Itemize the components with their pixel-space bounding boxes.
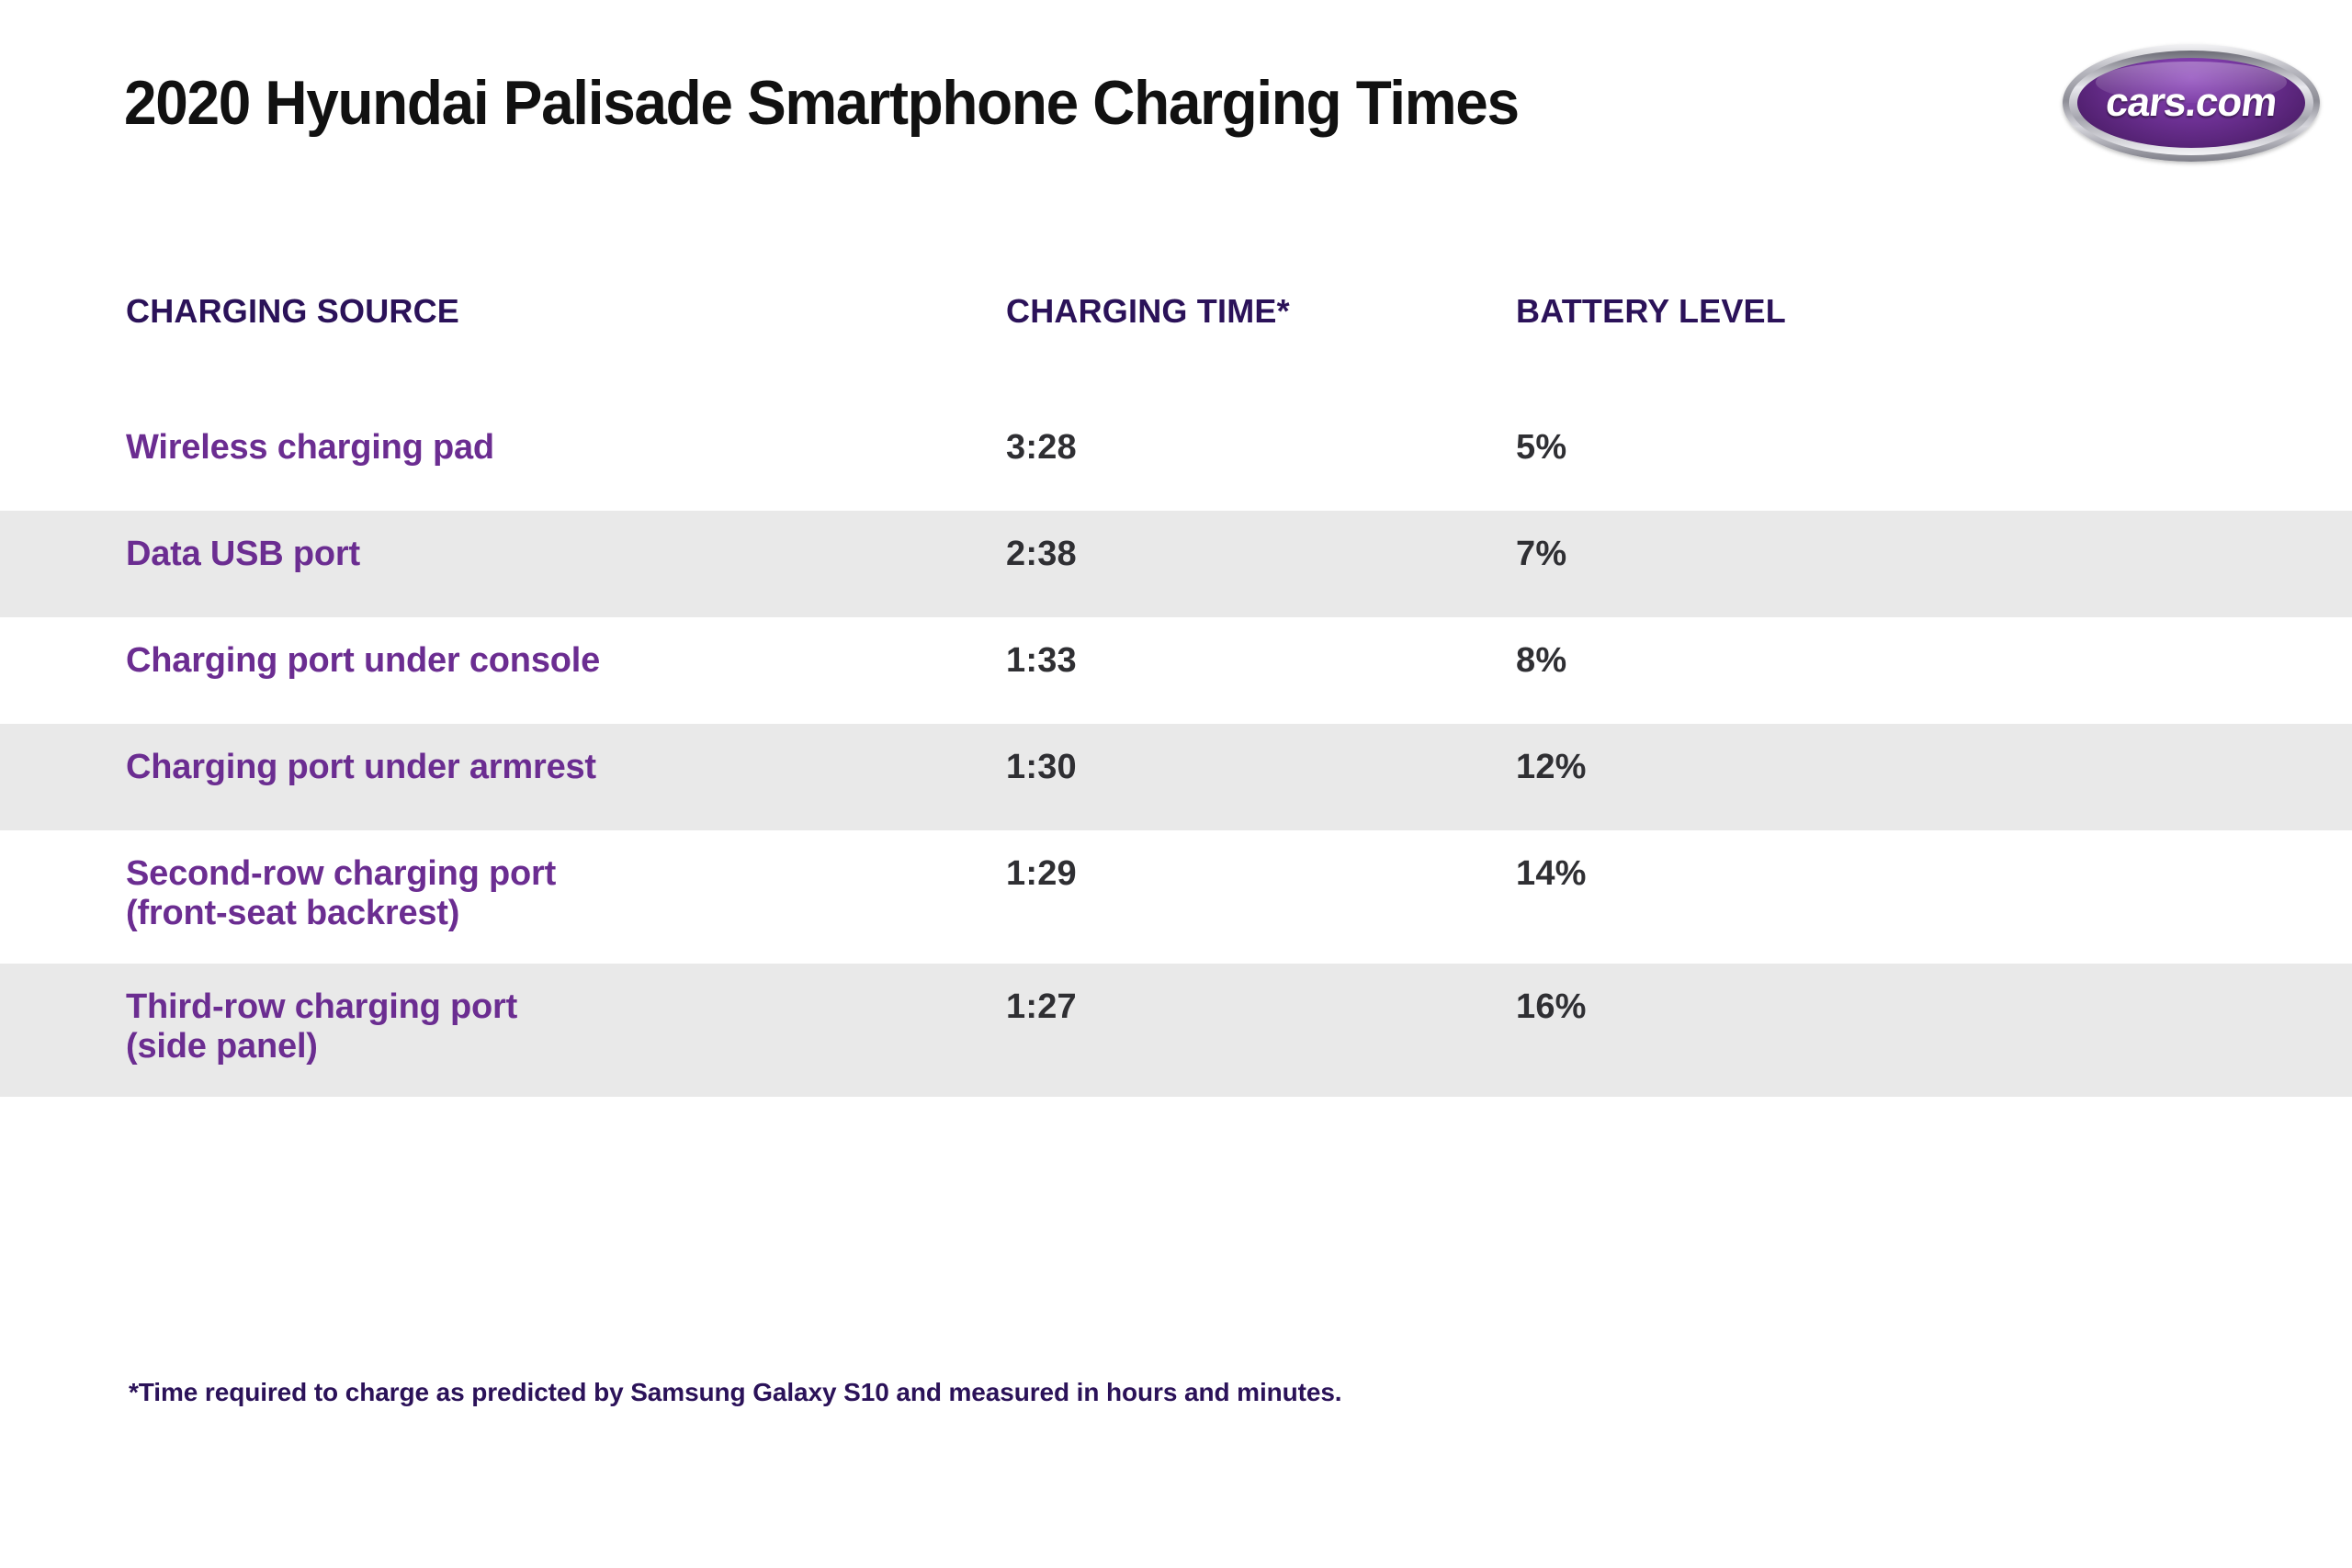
page-title: 2020 Hyundai Palisade Smartphone Chargin… [124, 72, 1519, 134]
table-row: Charging port under console 1:33 8% [0, 617, 2352, 724]
cell-charging-source: Third-row charging port (side panel) [126, 987, 517, 1066]
column-header-charging-source: CHARGING SOURCE [126, 292, 459, 331]
cell-battery-level: 5% [1516, 428, 1566, 468]
cell-battery-level: 8% [1516, 641, 1566, 681]
logo-wordmark: cars.com [2077, 80, 2305, 126]
cell-charging-time: 2:38 [1006, 535, 1077, 574]
column-header-battery-level: BATTERY LEVEL [1516, 292, 1786, 331]
cell-charging-time: 1:30 [1006, 748, 1077, 787]
cell-battery-level: 12% [1516, 748, 1587, 787]
cell-battery-level: 14% [1516, 854, 1587, 894]
table-row: Charging port under armrest 1:30 12% [0, 724, 2352, 830]
cell-charging-time: 1:27 [1006, 987, 1077, 1027]
column-header-charging-time: CHARGING TIME* [1006, 292, 1290, 331]
logo-oval: cars.com [2077, 58, 2305, 148]
table-row: Third-row charging port (side panel) 1:2… [0, 964, 2352, 1097]
table-footnote: *Time required to charge as predicted by… [129, 1378, 1342, 1407]
cell-charging-source: Wireless charging pad [126, 428, 494, 468]
cell-charging-time: 1:29 [1006, 854, 1077, 894]
table-header-row: CHARGING SOURCE CHARGING TIME* BATTERY L… [0, 292, 2352, 356]
cell-charging-source: Second-row charging port (front-seat bac… [126, 854, 556, 932]
cell-charging-time: 1:33 [1006, 641, 1077, 681]
cell-charging-source: Data USB port [126, 535, 360, 574]
cell-battery-level: 7% [1516, 535, 1566, 574]
cars-com-logo[interactable]: cars.com [2063, 44, 2320, 162]
page-header: 2020 Hyundai Palisade Smartphone Chargin… [0, 0, 2352, 276]
cell-charging-source: Charging port under console [126, 641, 600, 681]
table-row: Data USB port 2:38 7% [0, 511, 2352, 617]
table-body: Wireless charging pad 3:28 5% Data USB p… [0, 404, 2352, 1097]
cell-charging-source: Charging port under armrest [126, 748, 596, 787]
table-row: Wireless charging pad 3:28 5% [0, 404, 2352, 511]
cell-charging-time: 3:28 [1006, 428, 1077, 468]
table-row: Second-row charging port (front-seat bac… [0, 830, 2352, 964]
cell-battery-level: 16% [1516, 987, 1587, 1027]
